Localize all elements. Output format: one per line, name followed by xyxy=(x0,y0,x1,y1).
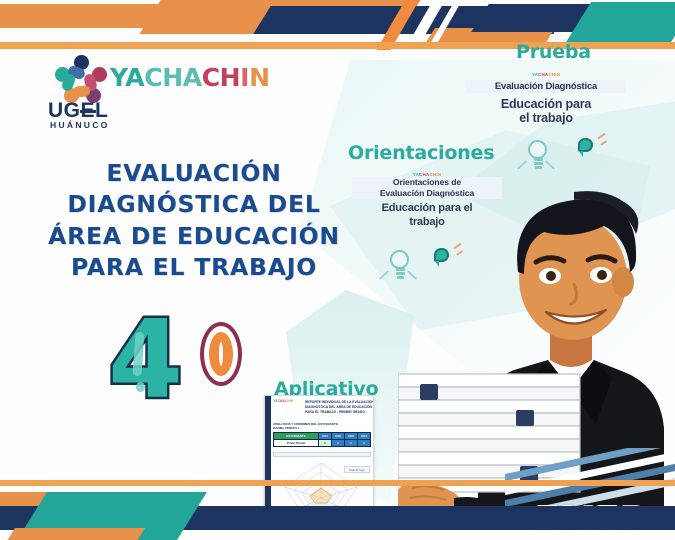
table-header-cell: C04 xyxy=(358,433,371,440)
title-line-4: PARA EL TRABAJO xyxy=(44,252,344,283)
grade-degree-outer xyxy=(200,322,242,386)
table-row: Prieto Daniel 1 1 1 1 xyxy=(274,440,371,447)
bottom-stripe-orange-2 xyxy=(5,528,145,540)
prueba-card-brand: YACHACHIN xyxy=(466,72,626,77)
radar-chart-legend: Nivel de logro xyxy=(344,466,370,473)
table-header-cell: ESTUDIANTE xyxy=(274,433,319,440)
aplicativo-report-title: REPORTE INDIVIDUAL DE LA EVALUACIÓN DIAG… xyxy=(305,400,374,414)
report-title-line-3: PARA EL TRABAJO - PRIMER GRADO xyxy=(305,410,374,415)
aplicativo-results-table[interactable]: ESTUDIANTE C01 C02 C03 C04 Prieto Daniel… xyxy=(273,432,371,447)
grade-degree-inner xyxy=(209,332,233,376)
table-header-row: ESTUDIANTE C01 C02 C03 C04 xyxy=(274,433,371,440)
prueba-card-heading-band: Evaluación Diagnóstica xyxy=(466,80,626,93)
page-title: EVALUACIÓN DIAGNÓSTICA DEL ÁREA DE EDUCA… xyxy=(44,158,344,283)
ugel-region-label: HUÁNUCO xyxy=(50,120,110,130)
table-cell-score: 1 xyxy=(332,440,345,447)
grade-number: 4 xyxy=(108,310,183,413)
aplicativo-divider-strip xyxy=(273,452,371,457)
report-title-line-2: DIAGNÓSTICA DEL ÁREA DE EDUCACIÓN xyxy=(305,405,374,410)
title-line-1: EVALUACIÓN xyxy=(44,158,344,189)
table-cell-score: 1 xyxy=(345,440,358,447)
prueba-document-card[interactable]: YACHACHIN Evaluación Diagnóstica Educaci… xyxy=(466,72,626,126)
title-line-3: ÁREA DE EDUCACIÓN xyxy=(44,221,344,252)
aplicativo-subtitle: APELLIDOS Y NOMBRES DEL ESTUDIANTE: DANI… xyxy=(273,422,353,431)
table-cell-score: 1 xyxy=(319,440,332,447)
poster-canvas: YACHACHIN UGEL HUÁNUCO EVALUACIÓN DIAGNÓ… xyxy=(0,0,675,540)
aplicativo-header: YACHACHIN REPORTE INDIVIDUAL DE LA EVALU… xyxy=(273,399,371,421)
table-header-cell: C03 xyxy=(345,433,358,440)
grade-badge: 4 xyxy=(108,310,258,420)
title-line-2: DIAGNÓSTICA DEL xyxy=(44,189,344,220)
table-cell-student: Prieto Daniel xyxy=(274,440,319,447)
brand-wordmark: YACHACHIN xyxy=(110,63,270,93)
aplicativo-subtitle-line-2: DANIEL PRIETO L. xyxy=(273,426,353,430)
prueba-sub-line-1: Educación para xyxy=(466,97,626,111)
prueba-card-heading: Evaluación Diagnóstica xyxy=(466,81,626,92)
table-cell-score: 1 xyxy=(358,440,371,447)
bottom-decorative-band xyxy=(0,478,675,540)
grade-highlight-2 xyxy=(136,382,145,392)
table-header-cell: C02 xyxy=(332,433,345,440)
section-label-prueba[interactable]: Prueba xyxy=(516,41,591,63)
table-header-cell: C01 xyxy=(319,433,332,440)
bottom-line-orange xyxy=(0,480,675,486)
brand-logo-block: YACHACHIN UGEL HUÁNUCO xyxy=(48,55,258,133)
